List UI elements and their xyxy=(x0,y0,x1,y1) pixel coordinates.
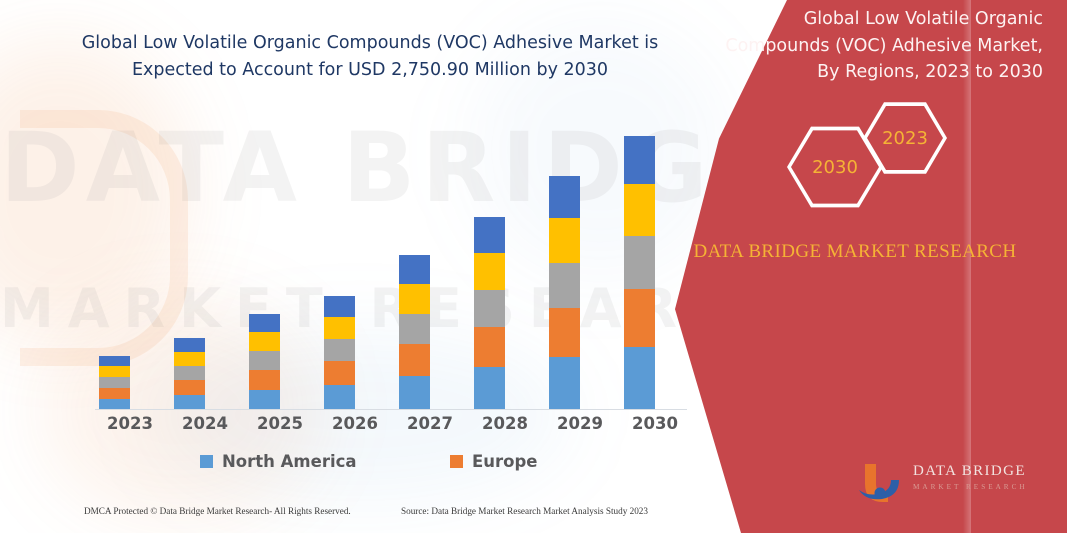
bar-segment-2024-north-america xyxy=(174,395,205,410)
bar-2024 xyxy=(174,338,205,410)
hexagon-ring-icon xyxy=(863,100,947,176)
hexagon-fill xyxy=(867,104,943,172)
bar-segment-2029-north-america xyxy=(549,357,580,410)
bar-segment-2025-asia-pacific xyxy=(249,351,280,370)
bar-segment-2027-south-america xyxy=(399,284,430,314)
legend-item-north-america[interactable]: North America xyxy=(200,452,357,471)
bar-segment-2023-asia-pacific xyxy=(99,377,130,388)
data-bridge-logo-text: DATA BRIDGE MARKET RESEARCH xyxy=(913,464,1053,491)
bar-segment-2027-europe xyxy=(399,344,430,376)
legend-label: Europe xyxy=(472,452,538,471)
x-axis-line xyxy=(95,409,687,410)
bar-segment-2030-europe xyxy=(624,289,655,347)
x-axis-label-2029: 2029 xyxy=(545,414,615,433)
bar-segment-2025-north-america xyxy=(249,390,280,410)
bar-segment-2028-middle-east-and-africa xyxy=(474,217,505,253)
bar-2030 xyxy=(624,136,655,410)
bar-segment-2026-middle-east-and-africa xyxy=(324,296,355,317)
x-axis-label-2028: 2028 xyxy=(470,414,540,433)
bar-segment-2026-asia-pacific xyxy=(324,339,355,361)
bar-segment-2028-north-america xyxy=(474,367,505,410)
bar-segment-2030-south-america xyxy=(624,184,655,236)
x-axis-labels: 20232024202520262027202820292030 xyxy=(95,414,695,444)
hexagon-label-2023: 2023 xyxy=(882,128,928,149)
red-panel-edge-highlight xyxy=(963,0,971,533)
bar-segment-2028-europe xyxy=(474,327,505,367)
hexagon-badge-2030: 2030 xyxy=(787,124,883,210)
footer-source-text: Source: Data Bridge Market Research Mark… xyxy=(401,506,648,516)
legend-label: North America xyxy=(222,452,357,471)
bar-segment-2026-europe xyxy=(324,361,355,385)
logo-title: DATA BRIDGE xyxy=(913,464,1053,479)
x-axis-label-2030: 2030 xyxy=(620,414,690,433)
footer: DMCA Protected © Data Bridge Market Rese… xyxy=(0,506,737,530)
footer-dmca-text: DMCA Protected © Data Bridge Market Rese… xyxy=(84,506,351,516)
x-axis-label-2026: 2026 xyxy=(320,414,390,433)
hexagon-ring-icon xyxy=(787,124,883,210)
bar-segment-2026-south-america xyxy=(324,317,355,339)
bar-segment-2024-asia-pacific xyxy=(174,366,205,380)
x-axis-label-2027: 2027 xyxy=(395,414,465,433)
bar-segment-2023-south-america xyxy=(99,366,130,377)
x-axis-label-2025: 2025 xyxy=(245,414,315,433)
bar-segment-2024-europe xyxy=(174,380,205,395)
bar-2023 xyxy=(99,356,130,410)
bar-segment-2023-middle-east-and-africa xyxy=(99,356,130,366)
chart-legend: North AmericaEurope xyxy=(95,452,695,482)
bar-segment-2027-asia-pacific xyxy=(399,314,430,344)
legend-item-europe[interactable]: Europe xyxy=(450,452,538,471)
bar-segment-2029-europe xyxy=(549,308,580,357)
bar-segment-2029-south-america xyxy=(549,218,580,263)
bar-segment-2026-north-america xyxy=(324,385,355,410)
bar-2026 xyxy=(324,296,355,410)
bar-segment-2028-asia-pacific xyxy=(474,290,505,327)
chart-pane: Global Low Volatile Organic Compounds (V… xyxy=(0,0,737,533)
bar-2025 xyxy=(249,314,280,410)
bar-segment-2030-north-america xyxy=(624,347,655,410)
bar-segment-2025-europe xyxy=(249,370,280,390)
bar-segment-2029-asia-pacific xyxy=(549,263,580,308)
panel-title: Global Low Volatile Organic Compounds (V… xyxy=(705,6,1043,86)
bar-segment-2025-middle-east-and-africa xyxy=(249,314,280,332)
bar-segment-2025-south-america xyxy=(249,332,280,351)
chart-plot-area xyxy=(95,120,695,410)
hexagon-fill xyxy=(791,128,879,206)
bar-segment-2027-north-america xyxy=(399,376,430,410)
logo-subtitle: MARKET RESEARCH xyxy=(913,484,1053,491)
bar-segment-2029-middle-east-and-africa xyxy=(549,176,580,218)
x-axis-label-2024: 2024 xyxy=(170,414,240,433)
hexagon-label-2030: 2030 xyxy=(812,157,858,178)
bar-segment-2027-middle-east-and-africa xyxy=(399,255,430,284)
legend-swatch-icon xyxy=(200,455,213,468)
data-bridge-logo-mark-icon xyxy=(857,460,905,506)
hexagon-badges: 2030 2023 xyxy=(787,100,987,210)
bar-segment-2028-south-america xyxy=(474,253,505,290)
bar-segment-2024-south-america xyxy=(174,352,205,366)
chart-title: Global Low Volatile Organic Compounds (V… xyxy=(60,30,680,83)
hexagon-badge-2023: 2023 xyxy=(863,100,947,176)
bar-2027 xyxy=(399,255,430,410)
data-bridge-logo: DATA BRIDGE MARKET RESEARCH xyxy=(857,458,1053,508)
bar-segment-2024-middle-east-and-africa xyxy=(174,338,205,352)
bar-segment-2030-middle-east-and-africa xyxy=(624,136,655,184)
legend-swatch-icon xyxy=(450,455,463,468)
x-axis-label-2023: 2023 xyxy=(95,414,165,433)
slide-root: DATA BRIDGE MARKET RESEARCH Global Low V… xyxy=(0,0,1067,533)
bar-segment-2023-europe xyxy=(99,388,130,399)
bar-2028 xyxy=(474,217,505,410)
bar-2029 xyxy=(549,176,580,410)
bar-segment-2030-asia-pacific xyxy=(624,236,655,289)
